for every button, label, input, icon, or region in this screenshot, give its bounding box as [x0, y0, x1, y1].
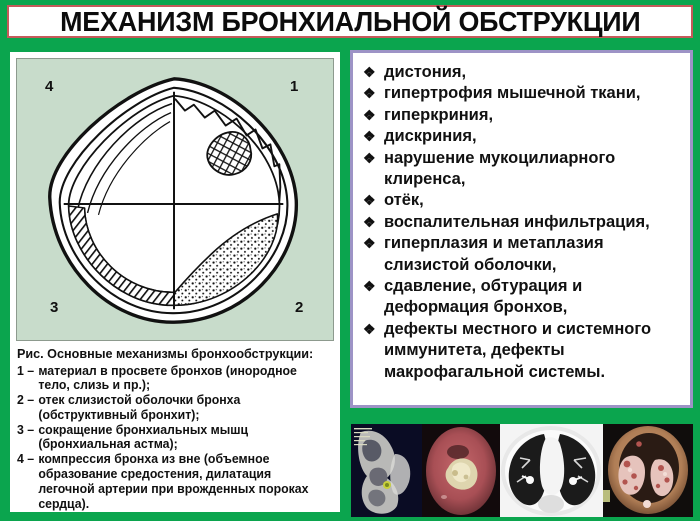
figure-panel: 4 1 3 2 Рис. Основные механизмы бронхооб…	[10, 52, 340, 512]
caption-item-line: сокращение бронхиальных мышц	[38, 423, 325, 438]
bullet-item-text: гипертрофия мышечной ткани,	[384, 83, 682, 104]
bullet-item-text: отёк,	[384, 190, 682, 211]
caption-item: 3 –сокращение бронхиальных мышц(бронхиал…	[17, 423, 325, 453]
bronchus-cross-section-figure: 4 1 3 2	[16, 58, 334, 341]
diamond-bullet-icon: ❖	[363, 233, 384, 276]
figure-label-1: 1	[290, 79, 298, 94]
caption-item-text: сокращение бронхиальных мышц(бронхиальна…	[38, 423, 325, 453]
bullet-item-text: дефекты местного и системногоиммунитета,…	[384, 319, 682, 383]
bullet-item-line: отёк,	[384, 190, 682, 211]
bullet-item: ❖гиперплазия и метаплазияслизистой оболо…	[363, 233, 682, 276]
figure-label-3: 3	[50, 300, 58, 315]
bullet-item: ❖гиперкриния,	[363, 105, 682, 126]
bullet-item: ❖дистония,	[363, 62, 682, 83]
bronchoscopy-tumor-photo	[422, 424, 500, 517]
bronchoscopy-tumor-image	[422, 424, 500, 517]
ct-axial-chest-image	[500, 424, 603, 517]
bullet-item-line: дефекты местного и системного	[384, 319, 682, 340]
ct-sagittal-lung-image	[351, 424, 422, 517]
caption-item-line: (бронхиальная астма);	[38, 437, 325, 452]
bullet-item-text: сдавление, обтурация идеформация бронхов…	[384, 276, 682, 319]
diamond-bullet-icon: ❖	[363, 62, 384, 83]
bronchoscopy-mucosa-lesions-image	[603, 424, 693, 517]
caption-item-number: 1 –	[17, 364, 38, 394]
caption-item-number: 3 –	[17, 423, 38, 453]
bullet-item: ❖нарушение мукоцилиарногоклиренса,	[363, 148, 682, 191]
caption-item-line: (обструктивный бронхит);	[38, 408, 325, 423]
bullet-item-text: воспалительная инфильтрация,	[384, 212, 682, 233]
caption-item-line: сердца).	[38, 497, 325, 512]
bronchoscopy-mucosa-lesions-photo	[603, 424, 693, 517]
bullet-item-text: гиперплазия и метаплазияслизистой оболоч…	[384, 233, 682, 276]
figure-label-2: 2	[295, 300, 303, 315]
ct-axial-chest-photo	[500, 424, 603, 517]
diamond-bullet-icon: ❖	[363, 276, 384, 319]
ct-sagittal-lung-photo	[351, 424, 422, 517]
caption-item-list: 1 –материал в просвете бронхов (инородно…	[17, 364, 335, 512]
bullet-item-line: дискриния,	[384, 126, 682, 147]
bullet-item-line: деформация бронхов,	[384, 297, 682, 318]
caption-item: 4 –компрессия бронха из вне (объемноеобр…	[17, 452, 325, 511]
figure-caption: Рис. Основные механизмы бронхообструкции…	[17, 346, 335, 511]
mechanisms-bullet-panel: ❖дистония,❖гипертрофия мышечной ткани,❖г…	[350, 50, 693, 408]
page-title: МЕХАНИЗМ БРОНХИАЛЬНОЙ ОБСТРУКЦИИ	[60, 8, 640, 36]
diamond-bullet-icon: ❖	[363, 105, 384, 126]
diamond-bullet-icon: ❖	[363, 148, 384, 191]
bullet-item-text: гиперкриния,	[384, 105, 682, 126]
bullet-item: ❖воспалительная инфильтрация,	[363, 212, 682, 233]
bullet-item-line: воспалительная инфильтрация,	[384, 212, 682, 233]
diamond-bullet-icon: ❖	[363, 319, 384, 383]
diamond-bullet-icon: ❖	[363, 83, 384, 104]
bullet-item-line: дистония,	[384, 62, 682, 83]
bullet-item-text: дискриния,	[384, 126, 682, 147]
caption-item-line: тело, слизь и пр.);	[38, 378, 325, 393]
caption-item-line: материал в просвете бронхов (инородное	[38, 364, 325, 379]
slide-title-box: МЕХАНИЗМ БРОНХИАЛЬНОЙ ОБСТРУКЦИИ	[7, 5, 693, 38]
bullet-item-line: сдавление, обтурация и	[384, 276, 682, 297]
caption-item-line: легочной артерии при врожденных пороках	[38, 482, 325, 497]
diamond-bullet-icon: ❖	[363, 126, 384, 147]
bullet-item-text: дистония,	[384, 62, 682, 83]
bullet-list: ❖дистония,❖гипертрофия мышечной ткани,❖г…	[363, 62, 682, 383]
bronchus-diagram-svg	[17, 59, 333, 340]
diamond-bullet-icon: ❖	[363, 212, 384, 233]
bullet-item: ❖сдавление, обтурация идеформация бронхо…	[363, 276, 682, 319]
bullet-item: ❖дискриния,	[363, 126, 682, 147]
photo-strip	[351, 424, 693, 517]
caption-item-number: 2 –	[17, 393, 38, 423]
caption-item: 2 –отек слизистой оболочки бронха(обстру…	[17, 393, 325, 423]
bullet-item: ❖гипертрофия мышечной ткани,	[363, 83, 682, 104]
bullet-item-line: слизистой оболочки,	[384, 255, 682, 276]
caption-item-number: 4 –	[17, 452, 38, 511]
bullet-item-line: гиперкриния,	[384, 105, 682, 126]
bullet-item-line: гипертрофия мышечной ткани,	[384, 83, 682, 104]
caption-item: 1 –материал в просвете бронхов (инородно…	[17, 364, 325, 394]
diamond-bullet-icon: ❖	[363, 190, 384, 211]
bullet-item-text: нарушение мукоцилиарногоклиренса,	[384, 148, 682, 191]
bullet-item-line: иммунитета, дефекты	[384, 340, 682, 361]
bullet-item: ❖дефекты местного и системногоиммунитета…	[363, 319, 682, 383]
caption-item-text: компрессия бронха из вне (объемноеобразо…	[38, 452, 325, 511]
caption-item-line: образование средостения, дилатация	[38, 467, 325, 482]
slide-canvas: МЕХАНИЗМ БРОНХИАЛЬНОЙ ОБСТРУКЦИИ	[0, 0, 700, 521]
caption-item-text: материал в просвете бронхов (инородноете…	[38, 364, 325, 394]
bullet-item-line: гиперплазия и метаплазия	[384, 233, 682, 254]
bullet-item-line: клиренса,	[384, 169, 682, 190]
caption-item-text: отек слизистой оболочки бронха(обструкти…	[38, 393, 325, 423]
bullet-item: ❖отёк,	[363, 190, 682, 211]
caption-item-line: отек слизистой оболочки бронха	[38, 393, 325, 408]
caption-item-line: компрессия бронха из вне (объемное	[38, 452, 325, 467]
bullet-item-line: макрофагальной системы.	[384, 362, 682, 383]
bullet-item-line: нарушение мукоцилиарного	[384, 148, 682, 169]
caption-heading: Рис. Основные механизмы бронхообструкции…	[17, 346, 325, 362]
figure-label-4: 4	[45, 79, 53, 94]
